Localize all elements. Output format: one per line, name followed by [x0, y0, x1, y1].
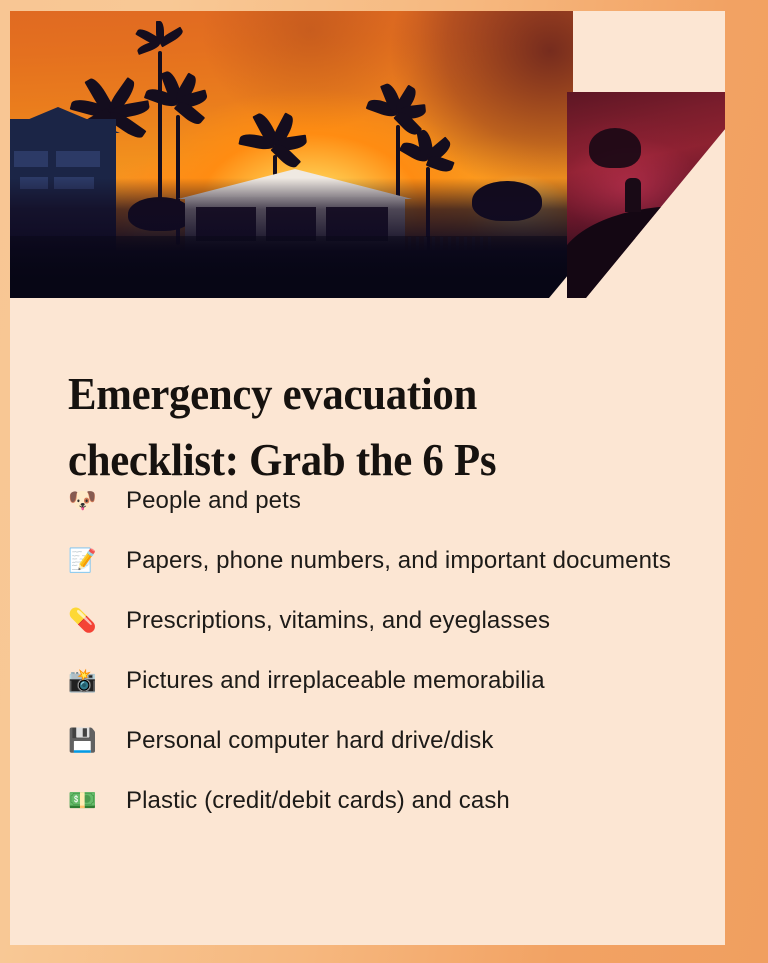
list-item: 💊 Prescriptions, vitamins, and eyeglasse… [68, 604, 688, 638]
left-house-window [56, 151, 100, 167]
list-item-label: Prescriptions, vitamins, and eyeglasses [126, 604, 688, 638]
dollar-banknote-icon: 💵 [68, 784, 126, 818]
floppy-disk-icon: 💾 [68, 724, 126, 758]
list-item-label: Personal computer hard drive/disk [126, 724, 688, 758]
headline-line-2: checklist: Grab the 6 Ps [68, 434, 496, 485]
list-item-label: Pictures and irreplaceable memorabilia [126, 664, 688, 698]
memo-icon: 📝 [68, 544, 126, 578]
left-house-window [14, 151, 48, 167]
list-item-label: Papers, phone numbers, and important doc… [126, 544, 688, 578]
fold-tree-silhouette [589, 128, 641, 168]
fold-person-silhouette [625, 178, 641, 212]
list-item: 📸 Pictures and irreplaceable memorabilia [68, 664, 688, 698]
list-item: 📝 Papers, phone numbers, and important d… [68, 544, 688, 578]
dark-foreground-lower [10, 236, 573, 298]
camera-with-flash-icon: 📸 [68, 664, 126, 698]
evacuation-checklist-card: Emergency evacuation checklist: Grab the… [0, 0, 768, 963]
checklist: 🐶 People and pets 📝 Papers, phone number… [68, 484, 688, 844]
list-item: 💵 Plastic (credit/debit cards) and cash [68, 784, 688, 818]
list-item: 🐶 People and pets [68, 484, 688, 518]
wildfire-photo [10, 11, 573, 298]
list-item-label: Plastic (credit/debit cards) and cash [126, 784, 688, 818]
list-item-label: People and pets [126, 484, 688, 518]
headline-line-1: Emergency evacuation [68, 368, 477, 419]
hero-image-area [10, 11, 725, 298]
page-title: Emergency evacuation checklist: Grab the… [68, 361, 626, 493]
dog-face-icon: 🐶 [68, 484, 126, 518]
pill-icon: 💊 [68, 604, 126, 638]
list-item: 💾 Personal computer hard drive/disk [68, 724, 688, 758]
